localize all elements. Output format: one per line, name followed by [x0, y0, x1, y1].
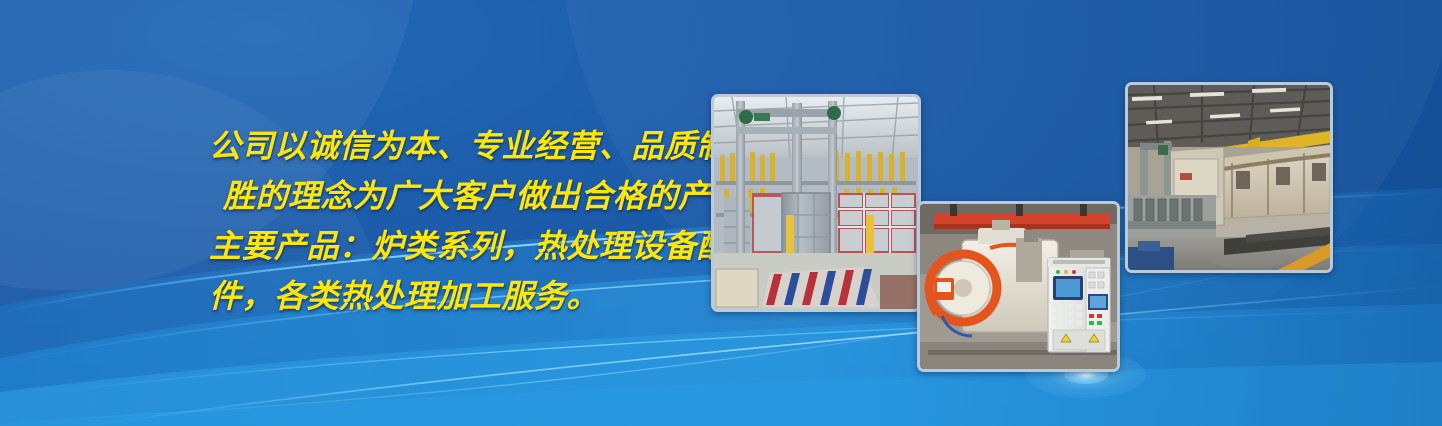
intro-copy-line-4: 件，各类热处理加工服务。 [209, 271, 729, 321]
company-intro-banner: 公司以诚信为本、专业经营、品质制 胜的理念为广大客户做出合格的产品。 主要产品：… [0, 0, 1442, 426]
photo-furnace-line-image [1128, 85, 1330, 270]
photo-vacuum-furnace-image [920, 204, 1117, 369]
intro-copy-line-3: 主要产品：炉类系列，热处理设备配 [209, 221, 729, 271]
photo-vacuum-furnace[interactable] [917, 201, 1120, 372]
intro-copy: 公司以诚信为本、专业经营、品质制 胜的理念为广大客户做出合格的产品。 主要产品：… [209, 121, 729, 321]
intro-copy-line-2: 胜的理念为广大客户做出合格的产品。 [209, 171, 729, 221]
photo-furnace-doors-image [714, 97, 918, 309]
photo-furnace-doors[interactable] [711, 94, 921, 312]
intro-copy-line-1: 公司以诚信为本、专业经营、品质制 [209, 121, 729, 171]
photo-furnace-line[interactable] [1125, 82, 1333, 273]
